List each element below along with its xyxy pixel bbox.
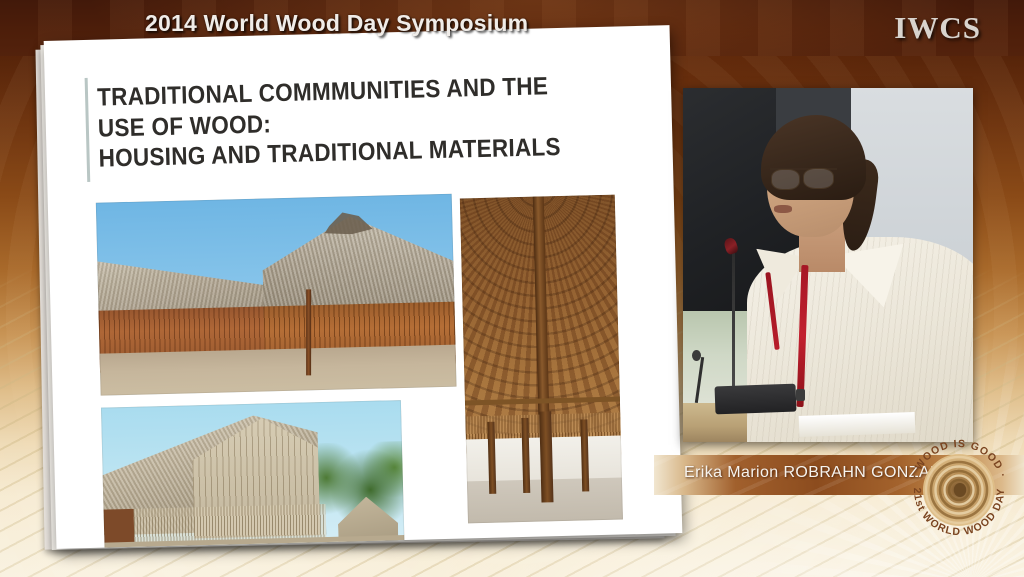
slide-photo-village-thatched-houses [96, 194, 457, 396]
speaker-badge [796, 389, 805, 401]
speaker-glasses-lens-right [803, 168, 834, 189]
slide-accent-bar [85, 78, 91, 182]
slide-title: TRADITIONAL COMMMUNITIES AND THE USE OF … [97, 70, 603, 174]
secondary-microphone-icon [692, 350, 701, 361]
world-wood-day-emblem: · WOOD IS GOOD · 21st WORLD WOOD DAY [903, 434, 1015, 546]
slide-photo-gable-thatched-house [101, 400, 405, 549]
microphone-stand [732, 251, 735, 393]
speaker-glasses-lens-left [771, 169, 799, 190]
photo-wooden-post [306, 289, 311, 375]
photo-center-post [540, 411, 554, 502]
speaker-notes-paper [799, 412, 916, 437]
photo-sandy-ground [100, 345, 457, 396]
page-title: 2014 World Wood Day Symposium [145, 10, 528, 37]
presentation-slide: TRADITIONAL COMMMUNITIES AND THE USE OF … [44, 25, 683, 549]
presentation-slide-stack: TRADITIONAL COMMMUNITIES AND THE USE OF … [36, 30, 676, 550]
video-player-frame: 2014 World Wood Day Symposium IWCS TRADI… [0, 0, 1024, 577]
slide-photo-palapa-roof-interior [460, 195, 623, 524]
iwcs-logo: IWCS [894, 10, 981, 46]
speaker-mouth [774, 205, 791, 213]
speaker-video-panel[interactable] [683, 88, 973, 442]
microphone-base [714, 384, 796, 415]
